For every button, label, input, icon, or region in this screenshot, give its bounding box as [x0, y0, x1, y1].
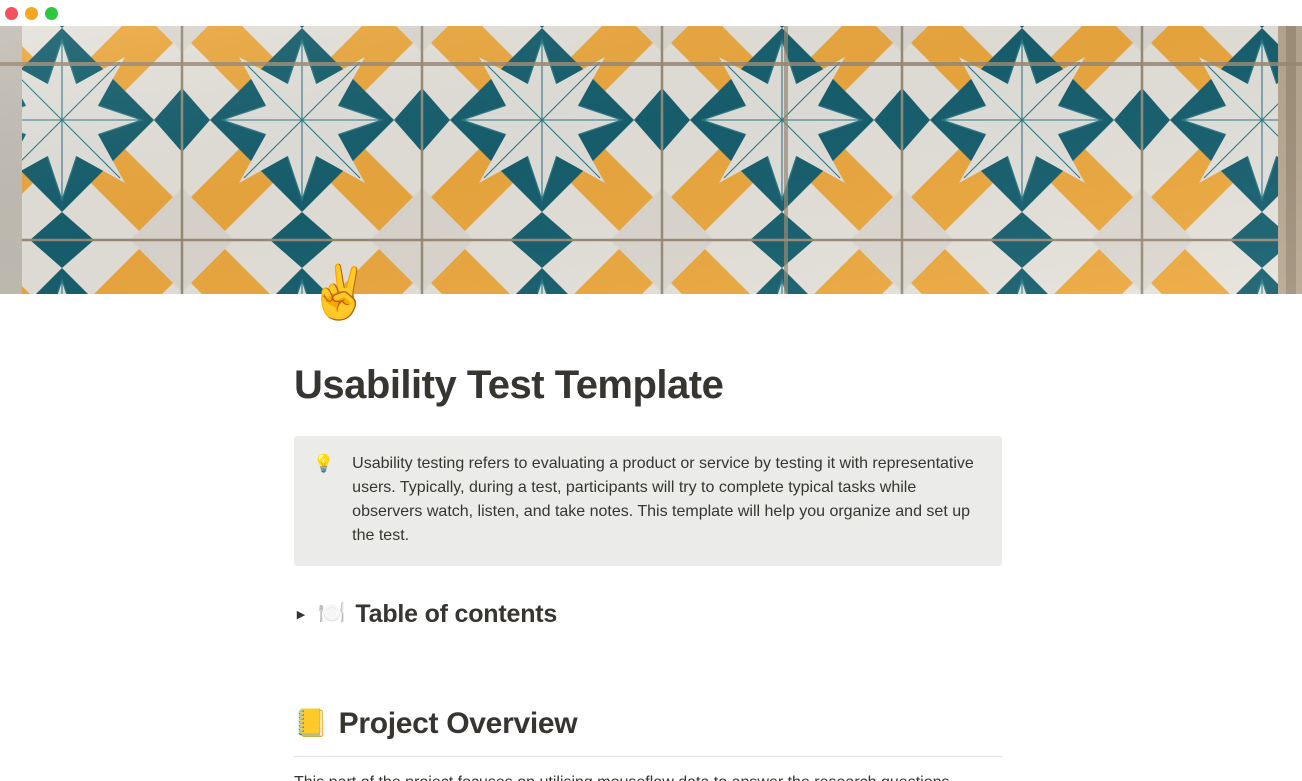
- misspelled-word[interactable]: utilising: [539, 774, 592, 781]
- paragraph-text: This part of the project focuses on: [294, 774, 539, 781]
- paragraph-text: data to answer the research questions: [674, 774, 950, 781]
- page-icon[interactable]: ✌️: [307, 262, 372, 324]
- section-title: Project Overview: [339, 705, 578, 743]
- callout-text: Usability testing refers to evaluating a…: [352, 452, 986, 548]
- ledger-notebook-icon: 📒: [294, 705, 328, 743]
- cover-image[interactable]: [0, 26, 1302, 294]
- notion-page-window: ✌️ Usability Test Template 💡 Usability t…: [0, 0, 1302, 781]
- toggle-table-of-contents[interactable]: ▶ 🍽️ Table of contents: [294, 597, 1002, 631]
- section-heading-project-overview[interactable]: 📒 Project Overview: [294, 705, 1002, 743]
- tile-pattern-graphic: [0, 26, 1302, 294]
- callout-block[interactable]: 💡 Usability testing refers to evaluating…: [294, 436, 1002, 566]
- section-paragraph[interactable]: This part of the project focuses on util…: [294, 770, 1002, 781]
- fork-and-knife-icon: 🍽️: [318, 599, 345, 629]
- minimize-button[interactable]: [25, 7, 38, 20]
- chevron-right-icon[interactable]: ▶: [294, 607, 308, 621]
- close-button[interactable]: [5, 7, 18, 20]
- section-divider: [294, 756, 1002, 757]
- misspelled-word[interactable]: mouseflow: [597, 774, 673, 781]
- light-bulb-icon: 💡: [313, 452, 334, 548]
- maximize-button[interactable]: [45, 7, 58, 20]
- toggle-label: Table of contents: [355, 598, 557, 630]
- window-titlebar: [0, 0, 1302, 26]
- page-content: Usability Test Template 💡 Usability test…: [294, 294, 1002, 781]
- page-title[interactable]: Usability Test Template: [294, 360, 1002, 410]
- traffic-light-group: [5, 7, 58, 20]
